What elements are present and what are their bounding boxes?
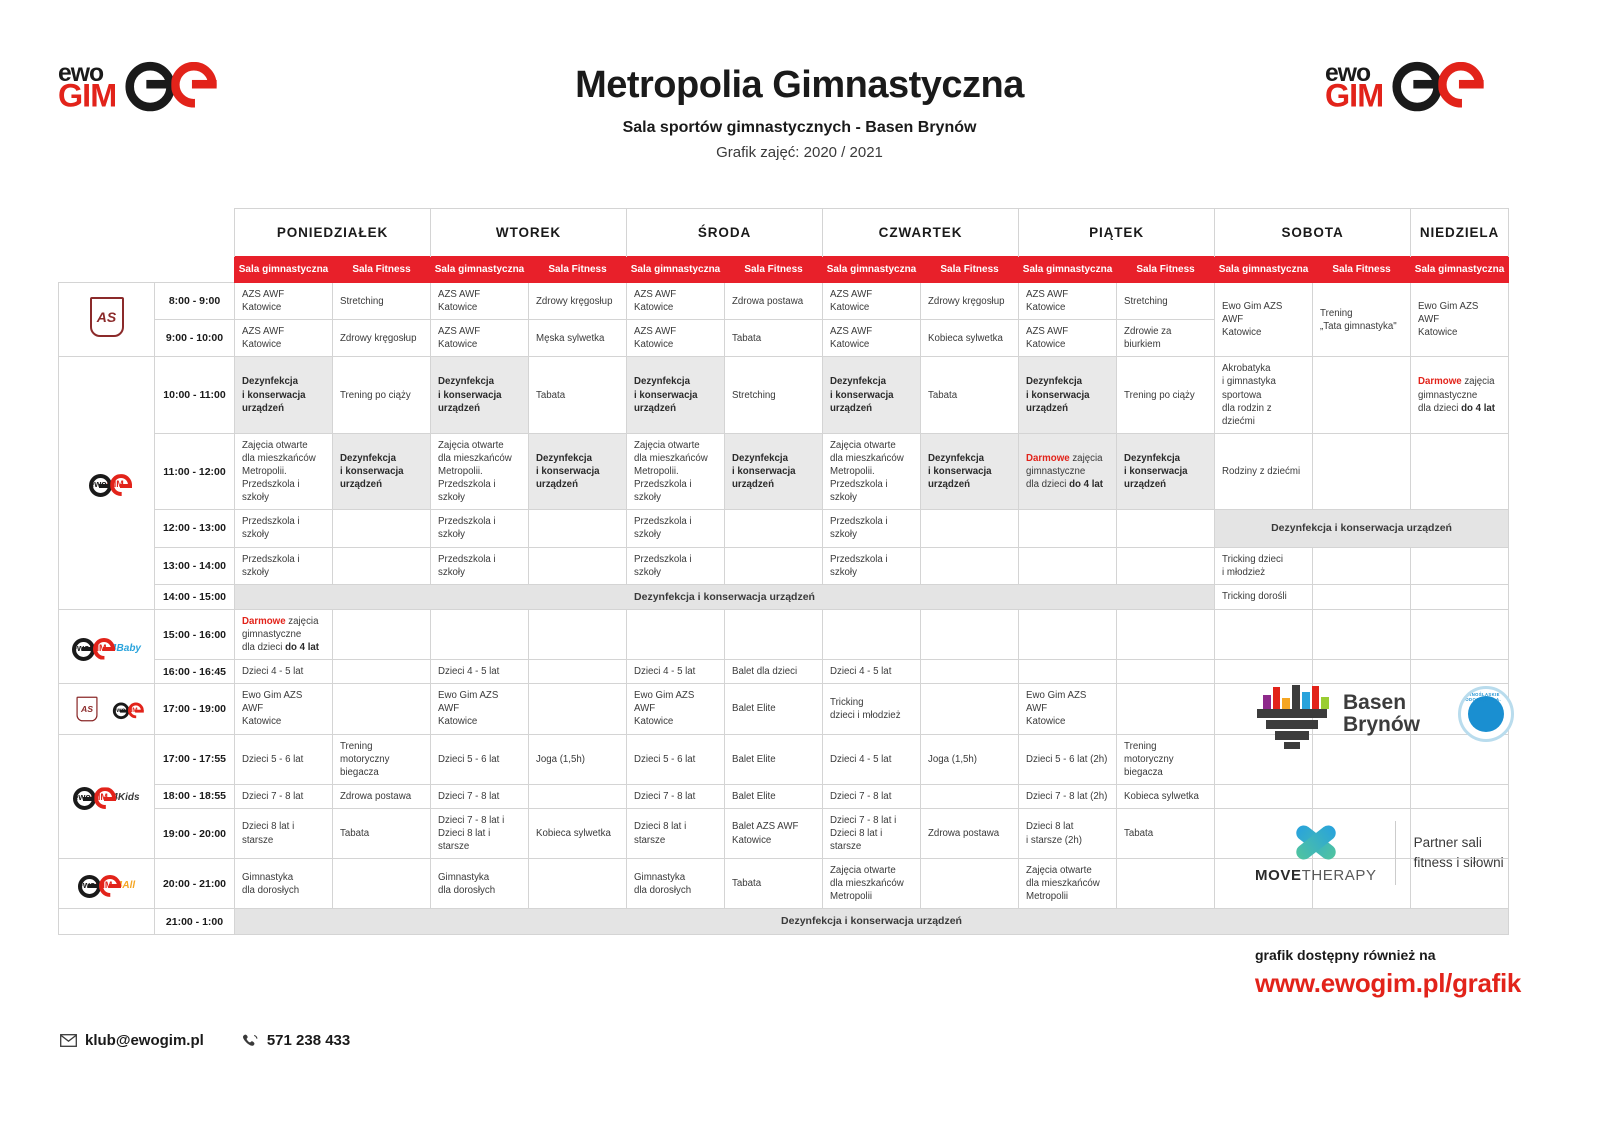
time-label: 16:00 - 16:45 [155,660,235,684]
group-logo-ewogim-baby: ewoGIM 4Baby [59,609,155,683]
txt4: Przedszkola i szkoły [438,479,496,503]
txt2: Dzieci 8 lat i starsze [438,828,490,852]
cell-sat-gym: Rodziny z dziećmi [1215,433,1313,509]
cell-mon-gym: Dzieci 7 - 8 lat [235,784,333,808]
cell-tue-fit [529,547,627,584]
txt2: Katowice [1418,327,1457,338]
txt4: Przedszkola i szkoły [830,479,888,503]
cell-fri-fit: Stretching [1117,283,1215,320]
time-label: 9:00 - 10:00 [155,320,235,357]
txt4: Przedszkola i szkoły [634,479,692,503]
cell-mon-gym: Gimnastyka dla dorosłych [235,859,333,909]
txt3: urządzeń [1124,479,1166,490]
cell-wed-gym: Dzieci 5 - 6 lat [627,734,725,784]
azs-crest-icon-small: AS [76,696,97,721]
cell-wed-fit: Dezynfekcja i konserwacja urządzeń [725,433,823,509]
txt: Dezynfekcja [634,376,690,387]
gornoslaskie-wodociagi-seal-icon: GÓRNOŚLĄSKIE WODOCIĄGI S.A. [1458,686,1514,742]
room-header-wed-fit: Sala Fitness [725,257,823,283]
cell-weekend-dezynfekcja: Dezynfekcja i konserwacja urządzeń [1215,510,1509,547]
cell-tue-gym: AZS AWF Katowice [431,283,529,320]
cell-fri-fit: Trening motoryczny biegacza [1117,734,1215,784]
txt2: dla mieszkańców [242,453,316,464]
txt2: Katowice [1222,327,1261,338]
cell-fri-gym: Dzieci 7 - 8 lat (2h) [1019,784,1117,808]
cell-mon-gym: Dzieci 8 lat i starsze [235,808,333,858]
cell-tue-fit [529,510,627,547]
day-header-monday: PONIEDZIAŁEK [235,209,431,257]
txt: zajęcia [1070,453,1103,464]
cell-thu-fit [921,684,1019,734]
cell-thu-fit: Zdrowy kręgosłup [921,283,1019,320]
cell-wed-fit: Balet dla dzieci [725,660,823,684]
txt4: Przedszkola i szkoły [242,479,300,503]
txt3: urządzeń [536,479,578,490]
cell-wed-fit: Tabata [725,859,823,909]
ewogim-4baby-logo-icon: ewoGIM 4Baby [72,639,141,655]
cell-sat-fit [1313,660,1411,684]
cell-thu-fit [921,660,1019,684]
txt: Ewo Gim AZS AWF [438,690,498,714]
time-label: 12:00 - 13:00 [155,510,235,547]
txt: zajęcia [286,616,319,627]
txt: Trening motoryczny [1124,741,1174,765]
cell-mon-gym: Dezynfekcja i konserwacja urządzeń [235,357,333,433]
cell-thu-gym: AZS AWF Katowice [823,320,921,357]
txt: Dzieci 7 - 8 lat i [830,815,896,826]
txt2: dla mieszkańców [1026,878,1100,889]
cell-thu-gym: Przedszkola i szkoły [823,510,921,547]
cell-thu-fit: Zdrowa postawa [921,808,1019,858]
cell-wed-fit: Zdrowa postawa [725,283,823,320]
cell-mon-gym: AZS AWF Katowice [235,320,333,357]
cell-tue-gym: Dzieci 7 - 8 lat [431,784,529,808]
movetherapy-logo-icon: MOVETHERAPY [1255,823,1377,884]
cell-tue-gym [431,609,529,659]
cell-thu-fit: Tabata [921,357,1019,433]
ewogim-mini-logo-icon: ewoGIM [89,475,124,491]
cell-tue-gym: Dzieci 4 - 5 lat [431,660,529,684]
txt: Zajęcia otwarte [830,865,896,876]
txt2: Katowice [634,716,673,727]
group-logo-ewogim: ewoGIM [59,357,155,609]
day-header-wednesday: ŚRODA [627,209,823,257]
cell-thu-fit [921,510,1019,547]
header-spacer-logo [59,209,155,257]
seal-text: GÓRNOŚLĄSKIE WODOCIĄGI S.A. [1461,689,1511,739]
cell-tue-gym: Przedszkola i szkoły [431,547,529,584]
cell-thu-gym [823,609,921,659]
cell-sat-fit [1313,584,1411,609]
envelope-icon [60,1034,77,1047]
cell-sun-gym [1411,584,1509,609]
cell-fri-gym: AZS AWF Katowice [1019,283,1117,320]
cell-thu-fit [921,859,1019,909]
txt: zajęcia [1462,376,1495,387]
table-row: 12:00 - 13:00 Przedszkola i szkoły Przed… [59,510,1509,547]
room-header-mon-fit: Sala Fitness [333,257,431,283]
ewogim-mini-logo-icon-2: ewoGIM [113,703,138,715]
txt3: urządzeń [634,403,676,414]
cell-fri-gym: Zajęcia otwarte dla mieszkańców Metropol… [1019,859,1117,909]
txt2: Katowice [1026,716,1065,727]
cell-tue-gym: Dezynfekcja i konserwacja urządzeń [431,357,529,433]
txt3: dla dzieci [1026,479,1069,490]
cell-sun-gym: Ewo Gim AZS AWF Katowice [1411,283,1509,357]
table-row: 16:00 - 16:45 Dzieci 4 - 5 lat Dzieci 4 … [59,660,1509,684]
cell-thu-gym: Dzieci 4 - 5 lat [823,734,921,784]
txt: Dezynfekcja [438,376,494,387]
day-header-saturday: SOBOTA [1215,209,1411,257]
txt2: gimnastyczne [1026,466,1085,477]
room-header-tue-gym: Sala gimnastyczna [431,257,529,283]
txt2: i konserwacja [928,466,992,477]
txt3: urządzeń [242,403,284,414]
txt2: biegacza [340,767,379,778]
txt: Trening motoryczny [340,741,390,765]
cell-fri-gym: Dezynfekcja i konserwacja urządzeń [1019,357,1117,433]
txt2: i konserwacja [732,466,796,477]
basen-brynow-logo-icon [1255,685,1329,743]
cell-wed-gym: AZS AWF Katowice [627,283,725,320]
cell-sat-fit: Trening „Tata gimnastyka" [1313,283,1411,357]
cell-sun-gym: Darmowe zajęcia gimnastyczne dla dzieci … [1411,357,1509,433]
cell-tue-gym: Przedszkola i szkoły [431,510,529,547]
cell-mon-fit: Trening po ciąży [333,357,431,433]
cell-thu-gym: Zajęcia otwarte dla mieszkańców Metropol… [823,859,921,909]
cell-sat-fit [1313,609,1411,659]
cell-wed-fit [725,547,823,584]
txt: Ewo Gim AZS AWF [1418,301,1478,325]
cell-tue-gym: Dzieci 7 - 8 lat i Dzieci 8 lat i starsz… [431,808,529,858]
cell-wed-gym: Dezynfekcja i konserwacja urządzeń [627,357,725,433]
txt: Zajęcia otwarte [634,440,700,451]
cell-fri-fit: Dezynfekcja i konserwacja urządzeń [1117,433,1215,509]
cell-fri-gym [1019,547,1117,584]
cell-mon-fit [333,609,431,659]
cell-fri-fit: Kobieca sylwetka [1117,784,1215,808]
cell-fri-gym [1019,510,1117,547]
group-logo-azs-ewogim: AS ewoGIM [59,684,155,734]
txt-red: Darmowe [242,616,286,627]
cell-fri-gym: Ewo Gim AZS AWF Katowice [1019,684,1117,734]
cell-mon-fit [333,859,431,909]
partner-text: Partner sali fitness i siłowni [1414,833,1504,872]
website-url[interactable]: www.ewogim.pl/grafik [1255,968,1555,999]
txt2: dzieci i młodzież [830,710,901,721]
txt: Dezynfekcja [732,453,788,464]
day-header-tuesday: WTOREK [431,209,627,257]
cell-sat-fit [1313,433,1411,509]
cell-sat-gym: Akrobatyka i gimnastyka sportowa dla rod… [1215,357,1313,433]
time-label: 8:00 - 9:00 [155,283,235,320]
cell-weekday-dezynfekcja: Dezynfekcja i konserwacja urządzeń [235,584,1215,609]
cell-wed-gym: Zajęcia otwarte dla mieszkańców Metropol… [627,433,725,509]
txt3: urządzeń [1026,403,1068,414]
txt: Zajęcia otwarte [1026,865,1092,876]
cell-thu-fit [921,609,1019,659]
txt2: i młodzież [1222,567,1265,578]
cell-mon-gym: Przedszkola i szkoły [235,510,333,547]
cell-sun-gym [1411,660,1509,684]
time-label: 19:00 - 20:00 [155,808,235,858]
txt2: Katowice [242,716,281,727]
basen-brynow-text: Basen Brynów [1343,692,1420,736]
txt: Akrobatyka [1222,363,1270,374]
room-spacer-time [155,257,235,283]
cell-tue-gym: Ewo Gim AZS AWF Katowice [431,684,529,734]
basen-line1: Basen [1343,692,1420,714]
footer-contacts: klub@ewogim.pl 571 238 433 [60,1032,350,1049]
txt2: i konserwacja [438,390,502,401]
txt2: dla dorosłych [242,885,299,896]
cell-wed-gym: Przedszkola i szkoły [627,547,725,584]
txt: Dezynfekcja [928,453,984,464]
table-row: 14:00 - 15:00 Dezynfekcja i konserwacja … [59,584,1509,609]
time-label: 13:00 - 14:00 [155,547,235,584]
txt: Ewo Gim AZS AWF [242,690,302,714]
time-label: 10:00 - 11:00 [155,357,235,433]
partner-line1: Partner sali [1414,833,1504,853]
cell-wed-fit [725,609,823,659]
cell-mon-gym: Dzieci 5 - 6 lat [235,734,333,784]
cell-fri-gym [1019,660,1117,684]
header-spacer-time [155,209,235,257]
txt2: gimnastyczne [242,629,301,640]
cell-tue-fit: Dezynfekcja i konserwacja urządzeń [529,433,627,509]
phone-icon [242,1033,259,1049]
cell-fri-fit: Trening po ciąży [1117,357,1215,433]
partner-line2: fitness i siłowni [1414,853,1504,873]
txt3: Metropolii. [634,466,679,477]
cell-wed-gym: Dzieci 7 - 8 lat [627,784,725,808]
txt: Zajęcia otwarte [830,440,896,451]
txt4: do 4 lat [1069,479,1103,490]
txt4: do 4 lat [285,642,319,653]
cell-tue-fit: Kobieca sylwetka [529,808,627,858]
txt4: do 4 lat [1461,403,1495,414]
cell-mon-fit [333,510,431,547]
txt: Dzieci 7 - 8 lat i [438,815,504,826]
time-label: 20:00 - 21:00 [155,859,235,909]
cell-fri-gym: AZS AWF Katowice [1019,320,1117,357]
sponsors-panel: Basen Brynów GÓRNOŚLĄSKIE WODOCIĄGI S.A.… [1255,685,1555,999]
ewogim-4all-logo-icon: ewoGIM 4All [78,876,135,892]
txt: Dezynfekcja [830,376,886,387]
table-row: ewoGIM 4Baby 15:00 - 16:00 Darmowe zajęc… [59,609,1509,659]
txt2: i konserwacja [1124,466,1188,477]
cell-thu-fit [921,784,1019,808]
contact-phone[interactable]: 571 238 433 [242,1032,350,1049]
group-logo-ewogim-kids: ewoGIM 4Kids [59,734,155,859]
txt: Ewo Gim AZS AWF [1026,690,1086,714]
txt3: dla dzieci [1418,403,1461,414]
txt2: i konserwacja [830,390,894,401]
cell-sat-fit [1313,357,1411,433]
move-light: THERAPY [1302,867,1377,884]
txt2: dla mieszkańców [830,878,904,889]
cell-wed-fit: Balet Elite [725,784,823,808]
cell-mon-fit: Trening motoryczny biegacza [333,734,431,784]
group-logo-azs: AS [59,283,155,357]
txt: Zajęcia otwarte [242,440,308,451]
txt-red: Darmowe [1026,453,1070,464]
cell-tue-gym: Gimnastyka dla dorosłych [431,859,529,909]
group-logo-empty [59,909,155,934]
cell-wed-gym: Dzieci 8 lat i starsze [627,808,725,858]
cell-thu-gym: Przedszkola i szkoły [823,547,921,584]
cell-wed-fit: Balet Elite [725,684,823,734]
txt3: urządzeń [438,403,480,414]
txt3: Metropolii [830,891,872,902]
time-label: 14:00 - 15:00 [155,584,235,609]
phone-text: 571 238 433 [267,1032,350,1049]
txt3: urządzeń [928,479,970,490]
txt: Zajęcia otwarte [438,440,504,451]
cell-wed-gym: Dzieci 4 - 5 lat [627,660,725,684]
movetherapy-wordmark: MOVETHERAPY [1255,867,1377,884]
cell-sun-gym [1411,433,1509,509]
txt: Dzieci 8 lat [1026,821,1073,832]
txt: Ewo Gim AZS AWF [634,690,694,714]
cell-wed-fit: Balet AZS AWF Katowice [725,808,823,858]
txt3: urządzeń [830,403,872,414]
day-header-thursday: CZWARTEK [823,209,1019,257]
room-header-thu-gym: Sala gimnastyczna [823,257,921,283]
txt2: i konserwacja [340,466,404,477]
cell-fri-fit: Zdrowie za biurkiem [1117,320,1215,357]
txt: Trening [1320,308,1353,319]
cell-fri-fit [1117,684,1215,734]
cell-tue-gym: AZS AWF Katowice [431,320,529,357]
cell-mon-fit: Stretching [333,283,431,320]
cell-fri-gym: Dzieci 5 - 6 lat (2h) [1019,734,1117,784]
table-row: AS 8:00 - 9:00 AZS AWF Katowice Stretchi… [59,283,1509,320]
room-header-wed-gym: Sala gimnastyczna [627,257,725,283]
cell-tue-fit [529,784,627,808]
room-header-sun-gym: Sala gimnastyczna [1411,257,1509,283]
txt2: „Tata gimnastyka" [1320,321,1397,332]
ewogim-4kids-logo-icon: ewoGIM 4Kids [73,788,139,804]
cell-thu-fit: Kobieca sylwetka [921,320,1019,357]
table-row: ewoGIM 10:00 - 11:00 Dezynfekcja i konse… [59,357,1509,433]
move-bold: MOVE [1255,867,1302,884]
cell-mon-fit: Zdrowa postawa [333,784,431,808]
txt: Tricking [830,697,864,708]
txt3: urządzeń [732,479,774,490]
cell-thu-gym: Zajęcia otwarte dla mieszkańców Metropol… [823,433,921,509]
table-row: 11:00 - 12:00 Zajęcia otwarte dla mieszk… [59,433,1509,509]
page-title: Metropolia Gimnastyczna [0,64,1599,107]
cell-sun-gym [1411,609,1509,659]
cell-tue-fit: Zdrowy kręgosłup [529,283,627,320]
txt2: Katowice [732,835,771,846]
cell-thu-fit: Joga (1,5h) [921,734,1019,784]
cell-thu-gym: Dezynfekcja i konserwacja urządzeń [823,357,921,433]
room-header-thu-fit: Sala Fitness [921,257,1019,283]
time-label: 15:00 - 16:00 [155,609,235,659]
cell-tue-gym: Dzieci 5 - 6 lat [431,734,529,784]
room-spacer-logo [59,257,155,283]
txt2: biegacza [1124,767,1163,778]
room-header-fri-fit: Sala Fitness [1117,257,1215,283]
txt2: gimnastyczne [1418,390,1477,401]
contact-email[interactable]: klub@ewogim.pl [60,1032,204,1049]
cell-wed-fit: Stretching [725,357,823,433]
cell-tue-fit: Tabata [529,357,627,433]
txt: Tricking dzieci [1222,554,1283,565]
txt: Dezynfekcja [1026,376,1082,387]
table-header-rooms: Sala gimnastyczna Sala Fitness Sala gimn… [59,257,1509,283]
cell-thu-gym: Dzieci 7 - 8 lat [823,784,921,808]
cell-thu-fit: Dezynfekcja i konserwacja urządzeń [921,433,1019,509]
txt2: i konserwacja [242,390,306,401]
cell-fri-fit: Tabata [1117,808,1215,858]
cell-mon-fit: Dezynfekcja i konserwacja urządzeń [333,433,431,509]
cell-mon-fit: Tabata [333,808,431,858]
cell-mon-gym: Dzieci 4 - 5 lat [235,660,333,684]
table-row: 13:00 - 14:00 Przedszkola i szkoły Przed… [59,547,1509,584]
txt3: Metropolii [1026,891,1068,902]
cell-tue-fit: Joga (1,5h) [529,734,627,784]
cell-fri-gym: Dzieci 8 lat i starsze (2h) [1019,808,1117,858]
cell-thu-gym: AZS AWF Katowice [823,283,921,320]
day-header-sunday: NIEDZIELA [1411,209,1509,257]
cell-sat-gym: Ewo Gim AZS AWF Katowice [1215,283,1313,357]
cell-wed-gym: AZS AWF Katowice [627,320,725,357]
cell-mon-fit: Zdrowy kręgosłup [333,320,431,357]
divider [1395,821,1396,885]
cell-tue-fit [529,684,627,734]
day-header-friday: PIĄTEK [1019,209,1215,257]
movetherapy-block: MOVETHERAPY Partner sali fitness i siłow… [1255,821,1555,885]
txt2: Katowice [438,716,477,727]
txt2: dla dorosłych [438,885,495,896]
basen-line2: Brynów [1343,714,1420,736]
txt2: dla mieszkańców [634,453,708,464]
cell-tue-fit [529,609,627,659]
cell-tue-gym: Zajęcia otwarte dla mieszkańców Metropol… [431,433,529,509]
cell-fri-gym [1019,609,1117,659]
cell-thu-gym: Dzieci 4 - 5 lat [823,660,921,684]
cell-fri-fit [1117,510,1215,547]
cell-thu-fit [921,547,1019,584]
cell-sat-gym: Tricking dorośli [1215,584,1313,609]
txt: Balet AZS AWF [732,821,798,832]
time-label: 11:00 - 12:00 [155,433,235,509]
cell-mon-fit [333,684,431,734]
cell-tue-fit: Męska sylwetka [529,320,627,357]
basen-brynow-block: Basen Brynów GÓRNOŚLĄSKIE WODOCIĄGI S.A. [1255,685,1555,743]
cell-thu-gym: Tricking dzieci i młodzież [823,684,921,734]
time-label: 17:00 - 17:55 [155,734,235,784]
cell-wed-gym [627,609,725,659]
txt2: i konserwacja [1026,390,1090,401]
txt3: dla dzieci [242,642,285,653]
cell-mon-fit [333,547,431,584]
txt2: Dzieci 8 lat i starsze [830,828,882,852]
website-lead: grafik dostępny również na [1255,947,1555,963]
txt2: dla mieszkańców [438,453,512,464]
txt: Gimnastyka [242,872,293,883]
cell-fri-fit [1117,609,1215,659]
txt2: i konserwacja [634,390,698,401]
table-header-days: PONIEDZIAŁEK WTOREK ŚRODA CZWARTEK PIĄTE… [59,209,1509,257]
time-label: 18:00 - 18:55 [155,784,235,808]
txt3: dla rodzin z dziećmi [1222,403,1272,427]
cell-sun-gym [1411,547,1509,584]
azs-crest-icon: AS [90,297,124,337]
